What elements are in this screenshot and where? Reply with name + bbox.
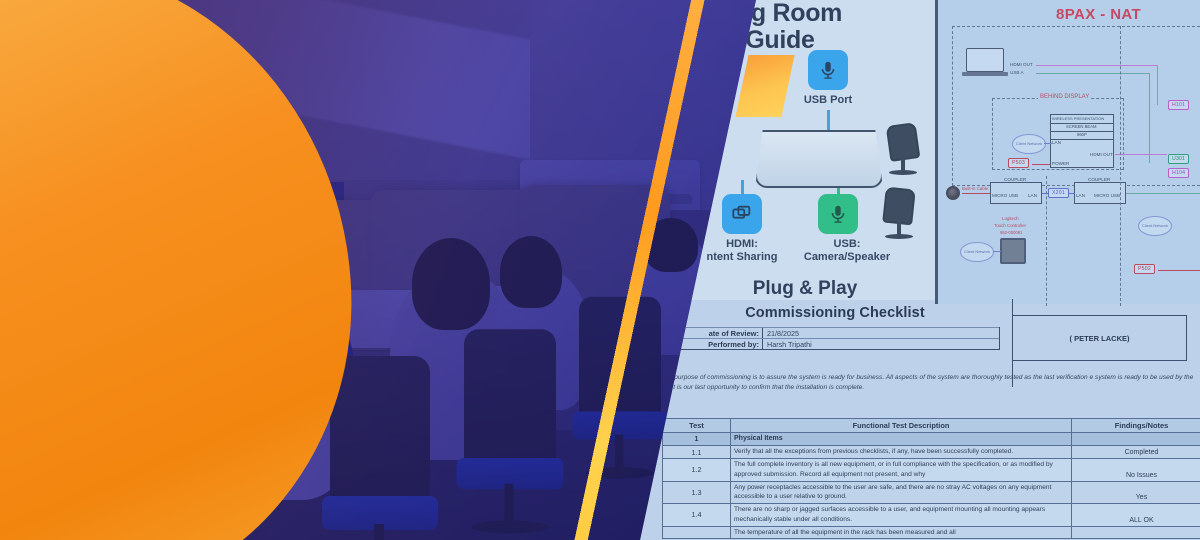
checklist-meta: ate of Review: 21/8/2025 Performed by: H… <box>670 327 1000 350</box>
usb-camera-label: USB: Camera/Speaker <box>788 238 906 264</box>
banner-composition: eeting Room tion Guide USB Port <box>0 0 1200 540</box>
table-row: 1.1 Verify that all the exceptions from … <box>663 446 1200 459</box>
diagram-title: 8PAX - NAT <box>1056 6 1141 23</box>
meta-row: Performed by: Harsh Tripathi <box>671 338 999 349</box>
device-model-label: SCREEN BEAM <box>1066 124 1096 129</box>
cell-description: Verify that all the exceptions from prev… <box>731 446 1072 459</box>
wire-cloud2 <box>993 251 1001 252</box>
node-h104: H104 <box>1168 168 1189 178</box>
wire-coupler2-out <box>1126 193 1200 194</box>
av-rack-diagram: 8PAX - NAT HDMI OUT USB A BEHIND DISPLAY… <box>935 0 1200 304</box>
cell-test: 1.3 <box>663 481 731 504</box>
cell-test: 1.4 <box>663 504 731 527</box>
behind-display-label: BEHIND DISPLAY <box>1038 94 1091 100</box>
coupler-2-label: COUPLER <box>1088 177 1110 182</box>
wire-x201-r <box>1069 193 1075 194</box>
client-network-cloud-3: Client Network <box>1138 216 1172 236</box>
laptop-icon <box>962 48 1008 78</box>
node-x201: X201 <box>1048 188 1069 198</box>
table-row: 1 Physical Items <box>663 433 1200 446</box>
meta-row: ate of Review: 21/8/2025 <box>671 327 999 338</box>
device-name-label: WIRELESS PRESENTATION <box>1052 116 1104 121</box>
conference-table-illustration <box>755 130 883 188</box>
controller-name-label: Touch Controller <box>994 223 1026 228</box>
col-description: Functional Test Description <box>731 419 1072 433</box>
wire-built-in <box>962 193 990 194</box>
wire-usb-v <box>1149 73 1150 163</box>
cell-description: The full complete inventory is all new e… <box>731 459 1072 482</box>
controller-brand-label: Logitech <box>1002 216 1019 221</box>
usb-camera-label-line1: USB: <box>834 238 861 250</box>
checklist-intro-text: on: The purpose of commissioning is to a… <box>650 373 1195 393</box>
cell-findings: Yes <box>1072 481 1200 504</box>
table-row: The temperature of all the equipment in … <box>663 526 1200 539</box>
node-p502: P502 <box>1134 264 1155 274</box>
touch-controller-device <box>1000 238 1026 264</box>
commissioning-checklist: Commissioning Checklist ate of Review: 2… <box>612 305 1200 321</box>
device-lan-port: LAN <box>1052 140 1061 145</box>
cell-findings <box>1072 526 1200 539</box>
controller-part-label: 952-000091 <box>1000 230 1022 235</box>
cell-findings <box>1072 433 1200 446</box>
plug-and-play-label: Plug & Play <box>660 278 950 300</box>
node-h101: H101 <box>1168 100 1189 110</box>
table-row: 1.3 Any power receptacles accessible to … <box>663 481 1200 504</box>
cell-description: There are no sharp or jagged surfaces ac… <box>731 504 1072 527</box>
date-of-review-value: 21/8/2025 <box>763 328 999 338</box>
table-body: 1 Physical Items 1.1 Verify that all the… <box>663 433 1200 539</box>
cell-test: 1 <box>663 433 731 446</box>
hdmi-label-line1: HDMI: <box>726 238 758 250</box>
cell-test: 1.1 <box>663 446 731 459</box>
coupler-1-left-port: MICRO USB <box>992 193 1018 198</box>
cell-findings: Completed <box>1072 446 1200 459</box>
performed-by-key: Performed by: <box>671 339 763 349</box>
usb-camera-label-line2: Camera/Speaker <box>804 251 890 263</box>
cloud-label-1: Client Network <box>1016 142 1042 146</box>
node-p503: P503 <box>1008 158 1029 168</box>
usb-port-label: USB Port <box>788 94 868 107</box>
client-network-cloud-1: Client Network <box>1012 134 1046 154</box>
diagram-vertical-divider-2 <box>1046 176 1047 306</box>
microphone-icon <box>827 203 849 225</box>
signature-box: ( PETER LACKE) <box>1012 315 1187 361</box>
cell-description: The temperature of all the equipment in … <box>731 526 1072 539</box>
checklist-title: Commissioning Checklist <box>670 305 1000 321</box>
cell-findings: ALL OK <box>1072 504 1200 527</box>
performed-by-value: Harsh Tripathi <box>763 339 999 349</box>
microphone-icon <box>817 59 839 81</box>
built-in-cable-connector <box>946 186 960 200</box>
coupler-2-left-port: LAN <box>1076 193 1085 198</box>
coupler-1-right-port: LAN <box>1028 193 1037 198</box>
col-test: Test <box>663 419 731 433</box>
cloud-label-3: Client Network <box>1142 224 1168 228</box>
diagram-vertical-divider <box>1120 26 1121 306</box>
device-hdmi-out-port: HDMI OUT <box>1090 152 1113 157</box>
laptop-hdmi-out-label: HDMI OUT <box>1010 62 1033 67</box>
screen-share-icon <box>731 203 753 225</box>
wire-usb <box>1036 73 1150 74</box>
laptop-usb-a-label: USB A <box>1010 70 1024 75</box>
usb-camera-speaker-icon <box>818 194 858 234</box>
hdmi-icon <box>722 194 762 234</box>
wire-hdmi-v <box>1157 65 1158 105</box>
built-in-cable-label: Built-in Cable <box>962 186 988 191</box>
cell-description: Any power receptacles accessible to the … <box>731 481 1072 504</box>
hdmi-connector <box>741 180 744 196</box>
cell-test: 1.2 <box>663 459 731 482</box>
wire-hdmi <box>1036 65 1158 66</box>
table-row: 1.2 The full complete inventory is all n… <box>663 459 1200 482</box>
client-network-cloud-2: Client Network <box>960 242 994 262</box>
node-u301: U301 <box>1168 154 1189 164</box>
wire-h104 <box>1115 154 1167 155</box>
wire-p503 <box>1032 164 1050 165</box>
usb-port-connector <box>827 110 830 130</box>
hdmi-label-line2: ntent Sharing <box>707 251 778 263</box>
table-header-row: Test Functional Test Description Finding… <box>663 419 1200 433</box>
cell-description: Physical Items <box>731 433 1072 446</box>
cell-test <box>663 526 731 539</box>
wire-p502 <box>1158 270 1200 271</box>
col-findings: Findings/Notes <box>1072 419 1200 433</box>
wire-cloud1 <box>1044 143 1052 144</box>
cell-findings: No Issues <box>1072 459 1200 482</box>
checklist-table: Test Functional Test Description Finding… <box>662 418 1200 539</box>
coupler-1-label: COUPLER <box>1004 177 1026 182</box>
device-power-port: POWER <box>1052 161 1069 166</box>
usb-port-icon <box>808 50 848 90</box>
cloud-label-2: Client Network <box>964 250 990 254</box>
coupler-2-right-port: MICRO USB <box>1094 193 1120 198</box>
table-row: 1.4 There are no sharp or jagged surface… <box>663 504 1200 527</box>
device-variant-label: 960P <box>1077 132 1087 137</box>
